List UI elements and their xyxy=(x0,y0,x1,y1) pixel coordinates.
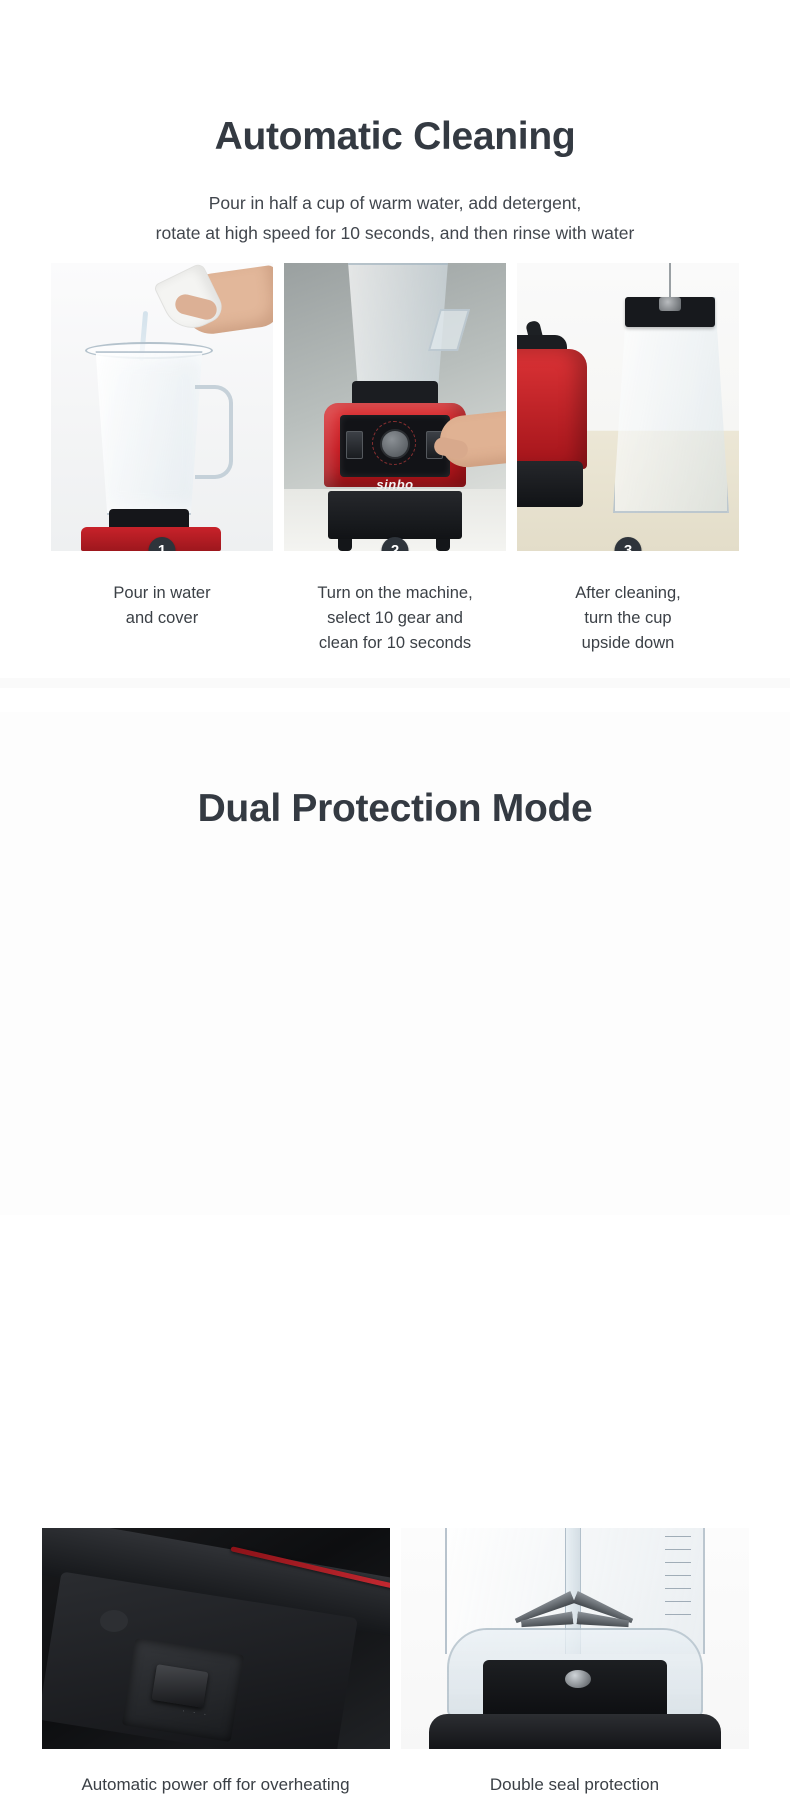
cleaning-step-1: 1 Pour in water and cover xyxy=(51,263,273,656)
machine-foot-left-illustration xyxy=(338,539,352,551)
machine-foot-right-illustration xyxy=(436,539,450,551)
measuring-scale-illustration xyxy=(665,1536,691,1640)
cleaning-step-3: 3 After cleaning, turn the cup upside do… xyxy=(517,263,739,656)
protection-item-2: Double seal protection xyxy=(401,1528,749,1797)
seal-knob-illustration xyxy=(565,1670,591,1688)
cleaning-steps-row: 1 Pour in water and cover sinbo xyxy=(0,263,790,656)
cleaning-step-1-caption: Pour in water and cover xyxy=(51,581,273,631)
cleaning-step-3-caption-line-3: upside down xyxy=(517,631,739,656)
inverted-jar-on-counter-photo: 3 xyxy=(517,263,739,551)
cleaning-step-2-caption: Turn on the machine, select 10 gear and … xyxy=(284,581,506,656)
red-machine-body-illustration xyxy=(517,349,587,469)
black-plinth-illustration xyxy=(328,491,462,539)
thermal-cutoff-switch-photo: · · · xyxy=(42,1528,390,1749)
section-divider xyxy=(0,678,790,688)
blade-nut-illustration xyxy=(659,297,681,311)
protection-items-row: · · · Automatic power off for overheatin… xyxy=(0,1528,790,1797)
inverted-jar-illustration xyxy=(613,297,729,513)
protection-item-1: · · · Automatic power off for overheatin… xyxy=(42,1528,390,1797)
cleaning-step-3-caption-line-2: turn the cup xyxy=(517,606,739,631)
jar-handle-illustration xyxy=(195,385,233,479)
speed-dial-knob[interactable] xyxy=(380,429,410,459)
automatic-cleaning-section: Automatic Cleaning Pour in half a cup of… xyxy=(0,26,790,686)
dual-protection-section: Dual Protection Mode · · · Automatic pow… xyxy=(0,712,790,1215)
cleaning-subtitle: Pour in half a cup of warm water, add de… xyxy=(0,188,790,248)
blender-control-panel-hand-photo: sinbo 2 xyxy=(284,263,506,551)
jar-pedestal-illustration xyxy=(429,1714,721,1749)
pouring-water-into-blender-jar-photo: 1 xyxy=(51,263,273,551)
jar-blade-seal-assembly-photo xyxy=(401,1528,749,1749)
cleaning-step-1-caption-line-2: and cover xyxy=(51,606,273,631)
protection-title: Dual Protection Mode xyxy=(0,712,790,834)
cleaning-step-2-caption-line-3: clean for 10 seconds xyxy=(284,631,506,656)
page-title: Automatic Cleaning xyxy=(0,26,790,162)
cleaning-step-1-caption-line-1: Pour in water xyxy=(51,581,273,606)
cleaning-step-3-caption-line-1: After cleaning, xyxy=(517,581,739,606)
protection-item-1-caption: Automatic power off for overheating xyxy=(42,1773,390,1797)
power-switch-left[interactable] xyxy=(346,431,363,459)
cleaning-step-2-caption-line-1: Turn on the machine, xyxy=(284,581,506,606)
wire-illustration xyxy=(669,263,671,301)
cleaning-subtitle-line-1: Pour in half a cup of warm water, add de… xyxy=(0,188,790,218)
cleaning-step-3-caption: After cleaning, turn the cup upside down xyxy=(517,581,739,656)
cleaning-step-2: sinbo 2 Turn on the machine, select 10 g… xyxy=(284,263,506,656)
blender-jar-illustration xyxy=(91,351,207,515)
cleaning-subtitle-line-2: rotate at high speed for 10 seconds, and… xyxy=(0,218,790,248)
black-plinth-illustration xyxy=(517,461,583,507)
cleaning-step-2-caption-line-2: select 10 gear and xyxy=(284,606,506,631)
protection-item-2-caption: Double seal protection xyxy=(401,1773,749,1797)
moulding-dimple-illustration xyxy=(100,1610,128,1632)
brand-logo-text: sinbo xyxy=(340,477,450,492)
